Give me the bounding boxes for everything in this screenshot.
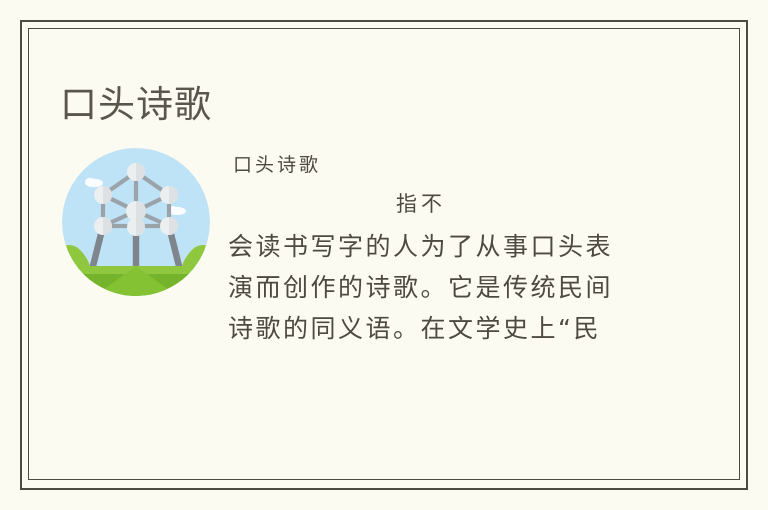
article-line-3: 会读书写字的人为了从事口头表 xyxy=(228,226,658,267)
page-title: 口头诗歌 xyxy=(60,83,212,127)
article-line-5: 诗歌的同义语。在文学史上“民 xyxy=(228,308,658,349)
article-line-2: 指不 xyxy=(228,182,658,226)
atomium-landmark-icon xyxy=(62,148,210,296)
article-line-1: 口头诗歌 xyxy=(228,148,658,182)
article-line-4: 演而创作的诗歌。它是传统民间 xyxy=(228,267,658,308)
article-body: 口头诗歌 指不 会读书写字的人为了从事口头表 演而创作的诗歌。它是传统民间 诗歌… xyxy=(228,148,658,349)
article-card: 口头诗歌 xyxy=(0,0,768,510)
illustration-container xyxy=(62,148,210,296)
card-content: 口头诗歌 xyxy=(28,28,740,480)
